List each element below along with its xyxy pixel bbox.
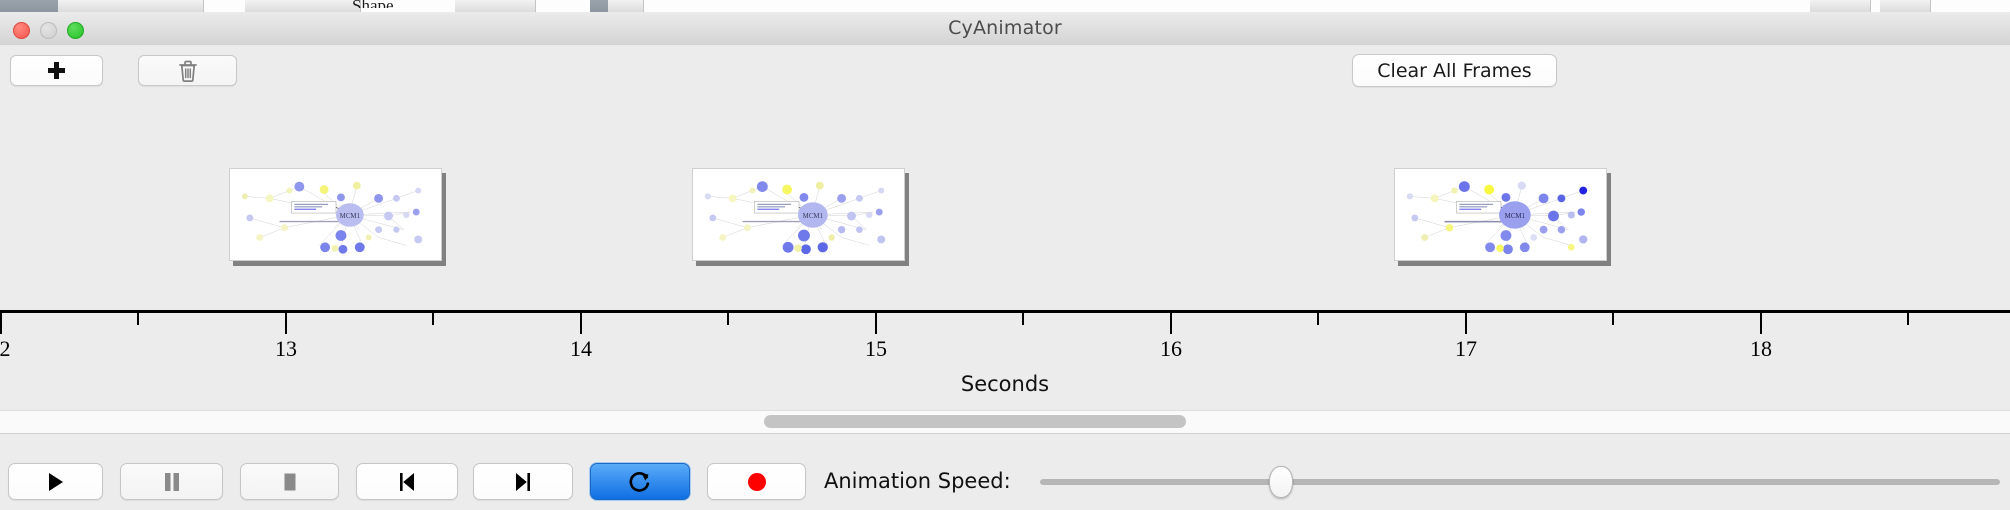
axis-title: Seconds bbox=[0, 372, 2010, 396]
axis-tick-minor bbox=[1022, 313, 1024, 325]
network-graph-preview: MCM1 bbox=[230, 169, 441, 260]
cyanimator-window: Shape CyAnimator Clear All Frames bbox=[0, 0, 2010, 510]
record-button[interactable] bbox=[707, 463, 806, 500]
bg-chip bbox=[245, 0, 301, 12]
animation-speed-slider[interactable] bbox=[1040, 474, 2000, 489]
scrollbar-thumb[interactable] bbox=[764, 415, 1186, 428]
axis-tick-label: 2 bbox=[0, 336, 11, 362]
bg-chip bbox=[590, 0, 609, 12]
plus-icon bbox=[48, 62, 65, 79]
timeline-axis-line bbox=[0, 310, 2010, 313]
trash-icon bbox=[177, 59, 199, 83]
bg-chip bbox=[0, 0, 59, 12]
bg-chip bbox=[143, 0, 189, 12]
background-window-label: Shape bbox=[352, 0, 394, 8]
frame-thumbnail[interactable]: MCM1 bbox=[229, 168, 442, 261]
axis-tick-label: 16 bbox=[1160, 336, 1182, 362]
frame-thumbnail[interactable]: MCM1 bbox=[692, 168, 905, 261]
frame-thumbnail[interactable]: MCM1 bbox=[1394, 168, 1607, 261]
network-graph-preview: MCM1 bbox=[1395, 169, 1606, 260]
axis-tick-minor bbox=[137, 313, 139, 325]
slider-thumb[interactable] bbox=[1269, 466, 1293, 498]
axis-tick-minor bbox=[432, 313, 434, 325]
toolbar bbox=[0, 45, 2010, 89]
axis-tick-minor bbox=[1317, 313, 1319, 325]
bg-chip bbox=[455, 0, 536, 12]
axis-tick-label: 15 bbox=[865, 336, 887, 362]
bg-chip bbox=[58, 0, 144, 12]
animation-speed-label: Animation Speed: bbox=[824, 463, 1011, 500]
add-frame-button[interactable] bbox=[10, 55, 103, 86]
axis-tick-label: 14 bbox=[570, 336, 592, 362]
axis-tick-minor bbox=[1612, 313, 1614, 325]
clear-all-frames-button[interactable]: Clear All Frames bbox=[1352, 54, 1557, 87]
axis-tick-major bbox=[1760, 313, 1762, 334]
slider-track bbox=[1040, 479, 2000, 485]
skip-to-start-icon bbox=[397, 472, 417, 492]
pause-icon bbox=[163, 472, 181, 492]
svg-text:MCM1: MCM1 bbox=[803, 213, 824, 220]
delete-frame-button[interactable] bbox=[138, 55, 237, 86]
record-icon bbox=[746, 471, 768, 493]
window-title: CyAnimator bbox=[0, 12, 2010, 45]
loop-icon bbox=[628, 470, 652, 494]
skip-to-end-icon bbox=[513, 472, 533, 492]
axis-tick-major bbox=[285, 313, 287, 334]
skip-to-start-button[interactable] bbox=[356, 463, 458, 500]
axis-tick-major bbox=[0, 313, 2, 334]
timeline-panel[interactable]: MCM1 bbox=[0, 88, 2010, 410]
play-button[interactable] bbox=[8, 463, 103, 500]
bg-chip bbox=[1880, 0, 1931, 12]
axis-tick-major bbox=[580, 313, 582, 334]
svg-text:MCM1: MCM1 bbox=[340, 213, 361, 220]
bg-chip bbox=[1810, 0, 1871, 12]
axis-tick-label: 17 bbox=[1455, 336, 1477, 362]
timeline-scrollbar[interactable] bbox=[0, 410, 2010, 434]
clear-all-frames-label: Clear All Frames bbox=[1377, 60, 1531, 82]
titlebar: CyAnimator bbox=[0, 12, 2010, 46]
axis-tick-major bbox=[1170, 313, 1172, 334]
axis-tick-label: 18 bbox=[1750, 336, 1772, 362]
axis-tick-major bbox=[1465, 313, 1467, 334]
network-graph-preview: MCM1 bbox=[693, 169, 904, 260]
stop-icon bbox=[281, 472, 299, 492]
play-icon bbox=[47, 472, 65, 492]
axis-tick-minor bbox=[1907, 313, 1909, 325]
skip-to-end-button[interactable] bbox=[473, 463, 573, 500]
axis-tick-label: 13 bbox=[275, 336, 297, 362]
stop-button[interactable] bbox=[240, 463, 339, 500]
svg-text:MCM1: MCM1 bbox=[1505, 213, 1526, 220]
loop-button[interactable] bbox=[590, 463, 690, 500]
bg-chip bbox=[608, 0, 644, 12]
axis-tick-major bbox=[875, 313, 877, 334]
pause-button[interactable] bbox=[120, 463, 223, 500]
bg-chip bbox=[188, 0, 204, 12]
axis-tick-minor bbox=[727, 313, 729, 325]
